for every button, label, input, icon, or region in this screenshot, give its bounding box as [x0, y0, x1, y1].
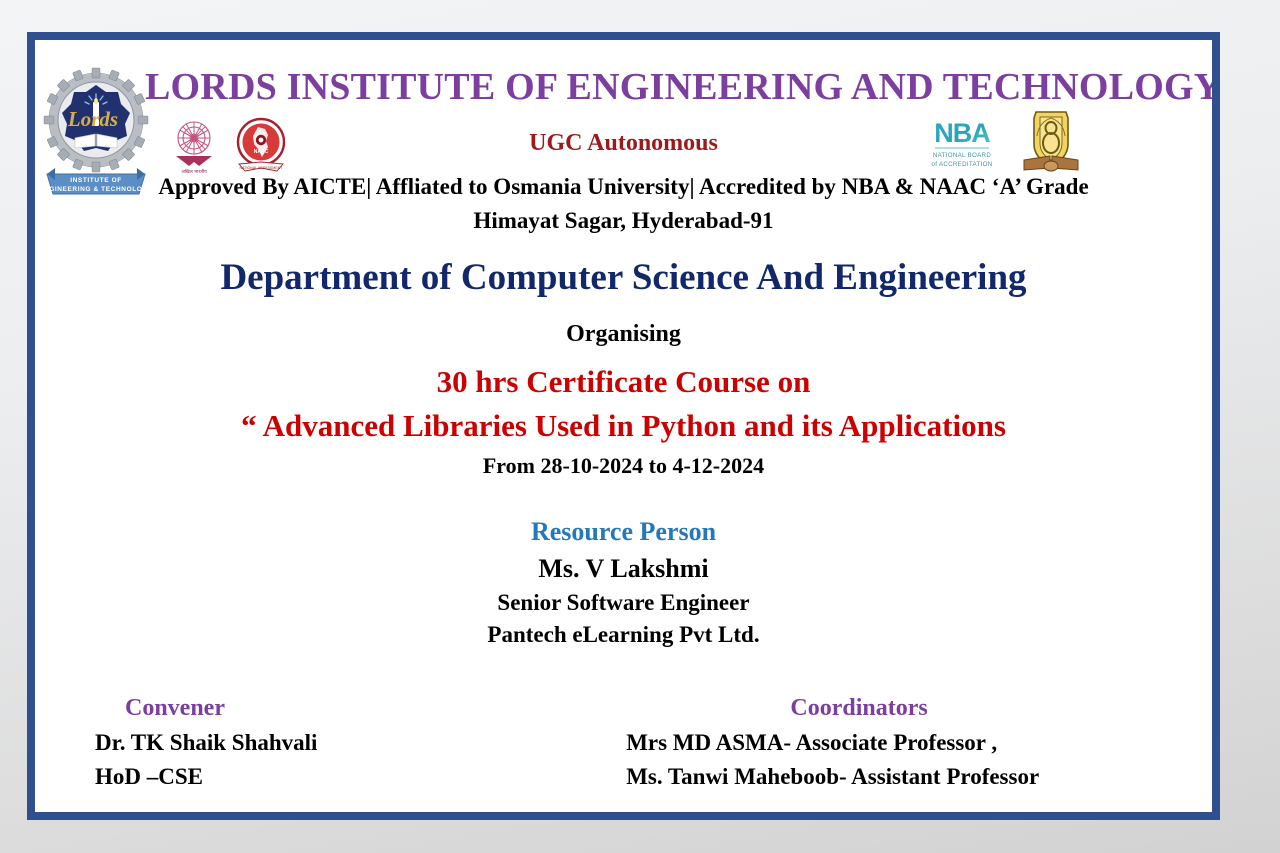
approvals-line: Approved By AICTE| Affliated to Osmania …: [35, 174, 1212, 200]
course-dates: From 28-10-2024 to 4-12-2024: [35, 453, 1212, 479]
convener-block: Convener Dr. TK Shaik Shahvali HoD –CSE: [35, 695, 588, 794]
svg-text:Lords: Lords: [67, 107, 118, 131]
flyer-footer: Convener Dr. TK Shaik Shahvali HoD –CSE …: [35, 695, 1212, 794]
svg-text:of ACCREDITATION: of ACCREDITATION: [932, 161, 993, 168]
coordinators-heading: Coordinators: [626, 695, 1212, 722]
flyer-header: Lords INSTITUTE OF: [35, 40, 1212, 220]
resource-person-designation: Senior Software Engineer: [35, 590, 1212, 616]
flyer-content: Lords INSTITUTE OF: [35, 40, 1212, 812]
address-line: Himayat Sagar, Hyderabad-91: [35, 208, 1212, 234]
course-duration-title: 30 hrs Certificate Course on: [35, 364, 1212, 400]
svg-text:NATIONAL ASSESSMENT: NATIONAL ASSESSMENT: [240, 166, 284, 170]
organising-label: Organising: [35, 321, 1212, 348]
resource-person-heading: Resource Person: [35, 517, 1212, 547]
coordinators-block: Coordinators Mrs MD ASMA- Associate Prof…: [588, 695, 1212, 794]
resource-person-organisation: Pantech eLearning Pvt Ltd.: [35, 622, 1212, 648]
course-title: “ Advanced Libraries Used in Python and …: [35, 408, 1212, 444]
convener-designation: HoD –CSE: [95, 760, 588, 794]
coordinator-item: Ms. Tanwi Maheboob- Assistant Professor: [626, 760, 1212, 794]
convener-heading: Convener: [95, 695, 588, 722]
ugc-autonomous-label: UGC Autonomous: [35, 130, 1212, 157]
convener-name: Dr. TK Shaik Shahvali: [95, 726, 588, 760]
coordinator-item: Mrs MD ASMA- Associate Professor ,: [626, 726, 1212, 760]
resource-person-name: Ms. V Lakshmi: [35, 554, 1212, 584]
event-flyer: Lords INSTITUTE OF: [27, 32, 1220, 820]
department-heading: Department of Computer Science And Engin…: [35, 256, 1212, 299]
institution-title: LORDS INSTITUTE OF ENGINEERING AND TECHN…: [145, 65, 1205, 109]
